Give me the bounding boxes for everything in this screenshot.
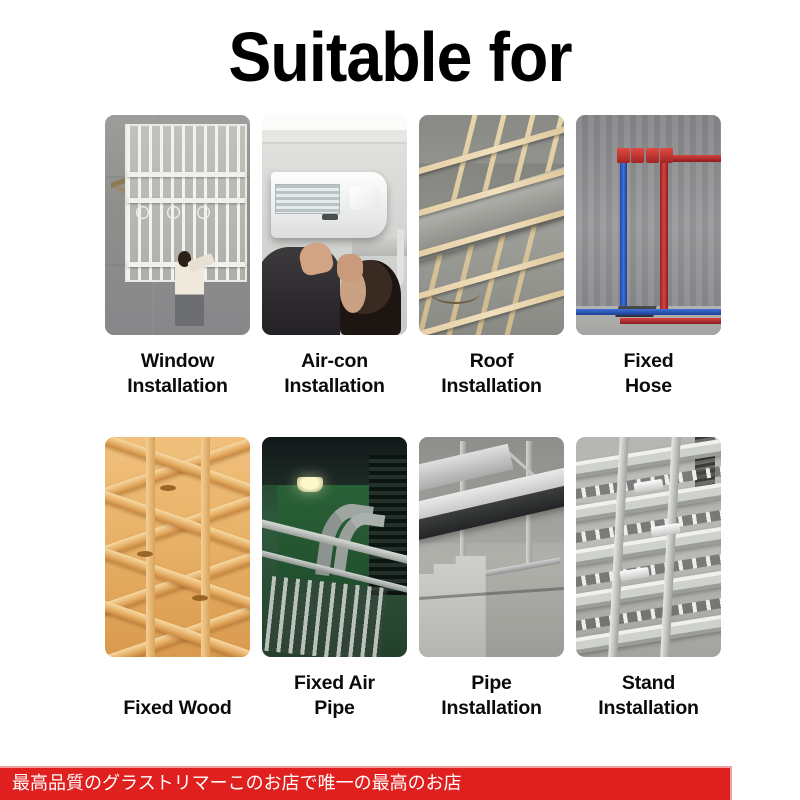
feature-card-roof-installation[interactable]: Roof Installation bbox=[419, 115, 564, 399]
feature-card-label-line1: Air-con bbox=[262, 349, 407, 374]
feature-card-air-con-installation[interactable]: Air-con Installation bbox=[262, 115, 407, 399]
feature-card-label-line2: Pipe bbox=[262, 696, 407, 721]
bottom-promo-banner-text: 最高品質のグラストリマーこのお店で唯一の最高のお店 bbox=[0, 774, 462, 794]
feature-card-label-line1: Stand bbox=[576, 671, 721, 696]
roof-installation-photo bbox=[419, 115, 564, 335]
feature-card-stand-installation[interactable]: Stand Installation bbox=[576, 437, 721, 721]
feature-grid-row-1: Window Installation bbox=[105, 115, 713, 399]
feature-card-label-line2: Installation bbox=[419, 374, 564, 399]
feature-card-label-line2: Installation bbox=[576, 696, 721, 721]
feature-card-label-line2: Installation bbox=[262, 374, 407, 399]
pipe-installation-photo bbox=[419, 437, 564, 657]
bottom-promo-banner: 最高品質のグラストリマーこのお店で唯一の最高のお店 bbox=[0, 766, 732, 800]
feature-card-label-line2: Installation bbox=[105, 374, 250, 399]
feature-card-label-line1: Fixed Air bbox=[262, 671, 407, 696]
feature-card-label: Window Installation bbox=[105, 349, 250, 399]
feature-card-label: Fixed Wood bbox=[105, 696, 250, 721]
feature-card-fixed-air-pipe[interactable]: Fixed Air Pipe bbox=[262, 437, 407, 721]
stand-installation-photo bbox=[576, 437, 721, 657]
feature-card-label: Air-con Installation bbox=[262, 349, 407, 399]
window-installation-photo bbox=[105, 115, 250, 335]
feature-card-window-installation[interactable]: Window Installation bbox=[105, 115, 250, 399]
feature-card-label-line1: Fixed bbox=[576, 349, 721, 374]
feature-card-label-line1: Fixed Wood bbox=[105, 696, 250, 721]
page-title: Suitable for bbox=[32, 18, 768, 96]
feature-card-label-line1: Pipe bbox=[419, 671, 564, 696]
fixed-wood-photo bbox=[105, 437, 250, 657]
feature-card-pipe-installation[interactable]: Pipe Installation bbox=[419, 437, 564, 721]
promo-banner-page: Suitable for bbox=[0, 0, 800, 800]
fixed-hose-photo bbox=[576, 115, 721, 335]
fixed-air-pipe-photo bbox=[262, 437, 407, 657]
feature-card-label: Fixed Hose bbox=[576, 349, 721, 399]
feature-card-label: Pipe Installation bbox=[419, 671, 564, 721]
feature-card-label: Fixed Air Pipe bbox=[262, 671, 407, 721]
air-con-installation-photo bbox=[262, 115, 407, 335]
feature-card-label: Stand Installation bbox=[576, 671, 721, 721]
feature-card-label-line2: Installation bbox=[419, 696, 564, 721]
feature-card-label-line2: Hose bbox=[576, 374, 721, 399]
feature-card-label: Roof Installation bbox=[419, 349, 564, 399]
feature-card-label-line1: Window bbox=[105, 349, 250, 374]
feature-grid-row-2: Fixed Wood Fixed Air Pi bbox=[105, 437, 713, 721]
feature-card-label-line1: Roof bbox=[419, 349, 564, 374]
feature-card-fixed-wood[interactable]: Fixed Wood bbox=[105, 437, 250, 721]
feature-card-fixed-hose[interactable]: Fixed Hose bbox=[576, 115, 721, 399]
